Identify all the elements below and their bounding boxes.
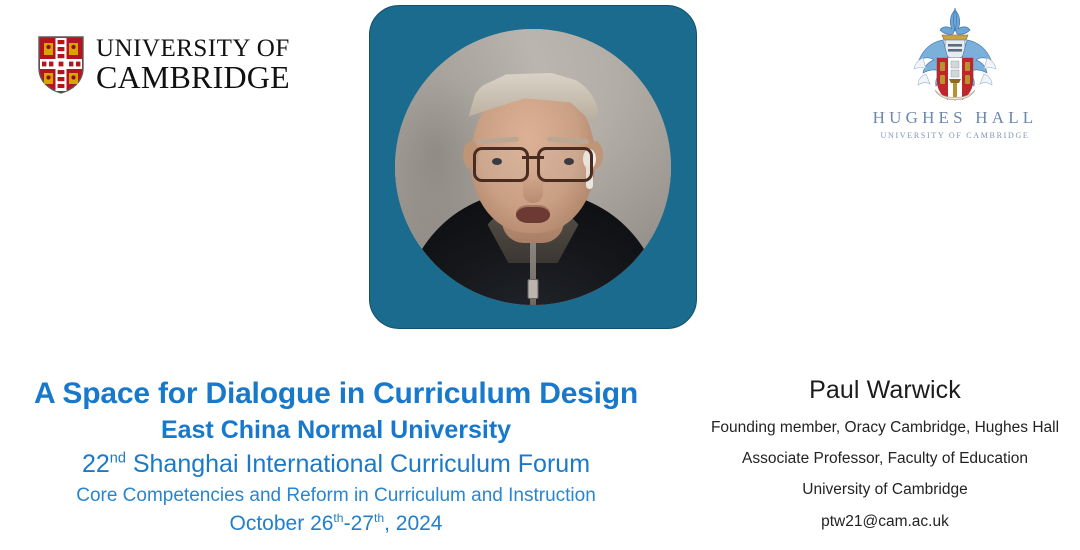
forum-theme: Core Competencies and Reform in Curricul… bbox=[0, 485, 672, 506]
forum-name-rest: Shanghai International Curriculum Forum bbox=[126, 450, 590, 478]
participant-zipper-pull bbox=[528, 279, 539, 299]
participant-eye-right bbox=[564, 158, 574, 165]
presentation-slide: UNIVERSITY OF CAMBRIDGE bbox=[0, 0, 1080, 550]
participant-lens-right bbox=[537, 147, 593, 182]
hughes-hall-wordmark: HUGHES HALL UNIVERSITY OF CAMBRIDGE bbox=[855, 108, 1055, 140]
date-separator: - bbox=[344, 512, 351, 535]
participant-mouth bbox=[516, 207, 550, 223]
forum-name: 22nd Shanghai International Curriculum F… bbox=[0, 451, 672, 479]
cambridge-logo: UNIVERSITY OF CAMBRIDGE bbox=[38, 36, 290, 94]
host-university: East China Normal University bbox=[0, 417, 672, 444]
speaker-name: Paul Warwick bbox=[690, 376, 1080, 405]
forum-ordinal: 22 bbox=[82, 450, 110, 478]
participant-video-circle bbox=[395, 29, 671, 305]
talk-title: A Space for Dialogue in Curriculum Desig… bbox=[0, 378, 672, 410]
participant-lens-left bbox=[473, 147, 529, 182]
date-day1-suffix: th bbox=[333, 511, 343, 525]
cambridge-wordmark-line2: CAMBRIDGE bbox=[96, 62, 290, 93]
hughes-hall-wordmark-line2: UNIVERSITY OF CAMBRIDGE bbox=[855, 131, 1055, 140]
date-month: October bbox=[230, 512, 311, 535]
date-year: , 2024 bbox=[384, 512, 442, 535]
date-day2-suffix: th bbox=[374, 511, 384, 525]
date-day2: 27 bbox=[351, 512, 374, 535]
speaker-email: ptw21@cam.ac.uk bbox=[690, 513, 1080, 530]
hughes-hall-coat-of-arms-icon bbox=[909, 6, 1001, 106]
cambridge-wordmark-line1: UNIVERSITY OF bbox=[96, 37, 290, 62]
speaker-role-line-2: Associate Professor, Faculty of Educatio… bbox=[690, 450, 1080, 467]
participant-glasses-bridge bbox=[522, 156, 544, 159]
participant-nose bbox=[523, 175, 543, 203]
date-day1: 26 bbox=[310, 512, 333, 535]
forum-dates: October 26th-27th, 2024 bbox=[0, 512, 672, 536]
cambridge-coat-of-arms-icon bbox=[38, 36, 84, 94]
speaker-role-line-3: University of Cambridge bbox=[690, 481, 1080, 498]
speaker-block: Paul Warwick Founding member, Oracy Camb… bbox=[690, 376, 1080, 530]
cambridge-wordmark: UNIVERSITY OF CAMBRIDGE bbox=[96, 37, 290, 93]
hughes-hall-wordmark-line1: HUGHES HALL bbox=[855, 108, 1055, 128]
video-participant-tile[interactable] bbox=[369, 5, 697, 329]
participant-glasses bbox=[473, 147, 593, 177]
participant-eye-left bbox=[492, 158, 502, 165]
title-block: A Space for Dialogue in Curriculum Desig… bbox=[0, 378, 672, 536]
forum-ordinal-suffix: nd bbox=[110, 451, 126, 467]
speaker-role-line-1: Founding member, Oracy Cambridge, Hughes… bbox=[690, 419, 1080, 436]
hughes-hall-logo: HUGHES HALL UNIVERSITY OF CAMBRIDGE bbox=[855, 6, 1055, 140]
